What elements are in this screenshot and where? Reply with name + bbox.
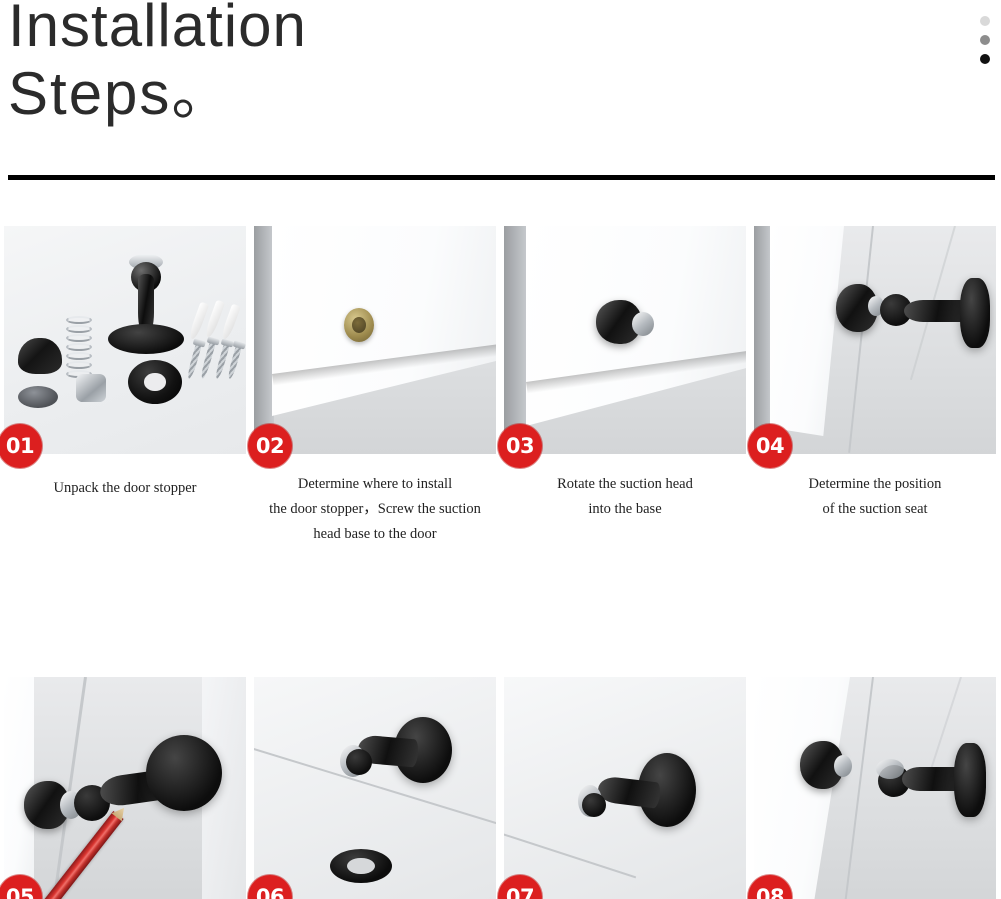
metal-washer-part	[18, 386, 58, 408]
cover-plate-scene	[504, 677, 746, 899]
step-card-02: 02 Determine where to install the door s…	[250, 226, 500, 547]
step-photo-wrap-02: 02	[254, 226, 496, 454]
steps-grid: 01 Unpack the door stopper 02 Determine …	[0, 226, 1001, 899]
step-photo-wrap-08: 08	[754, 677, 996, 899]
pencil-tip-icon	[112, 804, 130, 821]
suction-seat-plate	[960, 278, 990, 348]
white-door-surface	[272, 226, 496, 416]
screwed-seat-scene	[254, 677, 496, 899]
page-title-line-1: Installation	[8, 0, 768, 60]
magnet-ball	[582, 793, 606, 817]
suction-seat-plate	[954, 743, 986, 817]
header-divider	[8, 175, 995, 180]
step-photo-wrap-05: 05	[4, 677, 246, 899]
finished-install-scene	[754, 677, 996, 899]
step-photo-02	[254, 226, 496, 454]
wall-edge	[254, 226, 274, 454]
marking-lines-scene	[4, 677, 246, 899]
door-meets-seat-scene	[754, 226, 996, 454]
chrome-collar	[834, 755, 852, 777]
white-door-panel	[754, 677, 850, 899]
floor-tile-line-1	[844, 677, 874, 899]
wall-edge	[754, 226, 772, 454]
step-photo-05	[4, 677, 246, 899]
step-photo-08	[754, 677, 996, 899]
step-card-01: 01 Unpack the door stopper	[0, 226, 250, 547]
chrome-nut-part	[76, 374, 106, 402]
floor-tile-line-1	[848, 226, 874, 453]
step-photo-07	[504, 677, 746, 899]
suction-head-base-on-door	[344, 308, 374, 342]
step-caption-02: Determine where to install the door stop…	[250, 472, 500, 547]
installation-steps-page: Installation Steps。	[0, 0, 1001, 899]
step-card-03: 03 Rotate the suction head into the base	[500, 226, 750, 547]
page-title: Installation Steps。	[8, 0, 768, 128]
step-photo-03	[504, 226, 746, 454]
step-card-05: 05 Position the suction head and suction…	[0, 677, 250, 899]
page-title-line-2: Steps。	[8, 60, 768, 128]
door-with-base-scene	[254, 226, 496, 454]
step-photo-wrap-01: 01	[4, 226, 246, 454]
step-badge-02: 02	[248, 424, 292, 468]
step-photo-wrap-04: 04	[754, 226, 996, 454]
step-photo-04	[754, 226, 996, 454]
step-caption-03: Rotate the suction head into the base	[500, 472, 750, 522]
rubber-cone-part	[18, 338, 62, 374]
step-badge-03: 03	[498, 424, 542, 468]
parts-scene	[4, 226, 246, 454]
suction-head-assembly-part	[100, 252, 192, 354]
pager-dot-1-icon[interactable]	[980, 16, 990, 26]
seat-chrome-collar	[876, 759, 904, 779]
suction-seat-plate	[146, 735, 222, 811]
chrome-collar	[632, 312, 654, 336]
carousel-pager[interactable]	[980, 16, 994, 73]
step-badge-04: 04	[748, 424, 792, 468]
page-header: Installation Steps。	[0, 0, 1001, 178]
step-photo-01	[4, 226, 246, 454]
step-card-04: 04 Determine the position of the suction…	[750, 226, 1000, 547]
magnet-ball	[346, 749, 372, 775]
step-card-07: 07 Rotate the decorated cover plate to t…	[500, 677, 750, 899]
pager-dot-2-icon[interactable]	[980, 35, 990, 45]
step-photo-06	[254, 677, 496, 899]
step-card-08: 08 Alright, you're done!	[750, 677, 1000, 899]
cover-ring-part	[128, 360, 182, 404]
wall-edge	[504, 226, 528, 454]
white-door-panel	[770, 226, 844, 436]
step-photo-wrap-07: 07	[504, 677, 746, 899]
step-badge-01: 01	[0, 424, 42, 468]
step-photo-wrap-03: 03	[504, 226, 746, 454]
step-caption-04: Determine the position of the suction se…	[750, 472, 1000, 522]
screw-part-4	[227, 345, 242, 379]
step-card-06: 06 Fix the suction seat with screws on t…	[250, 677, 500, 899]
door-with-head-scene	[504, 226, 746, 454]
wall-anchor-part-3	[220, 304, 241, 341]
pager-dot-3-icon[interactable]	[980, 54, 990, 64]
step-photo-wrap-06: 06	[254, 677, 496, 899]
decorative-cover-ring	[330, 849, 392, 883]
step-caption-01: Unpack the door stopper	[0, 472, 250, 501]
